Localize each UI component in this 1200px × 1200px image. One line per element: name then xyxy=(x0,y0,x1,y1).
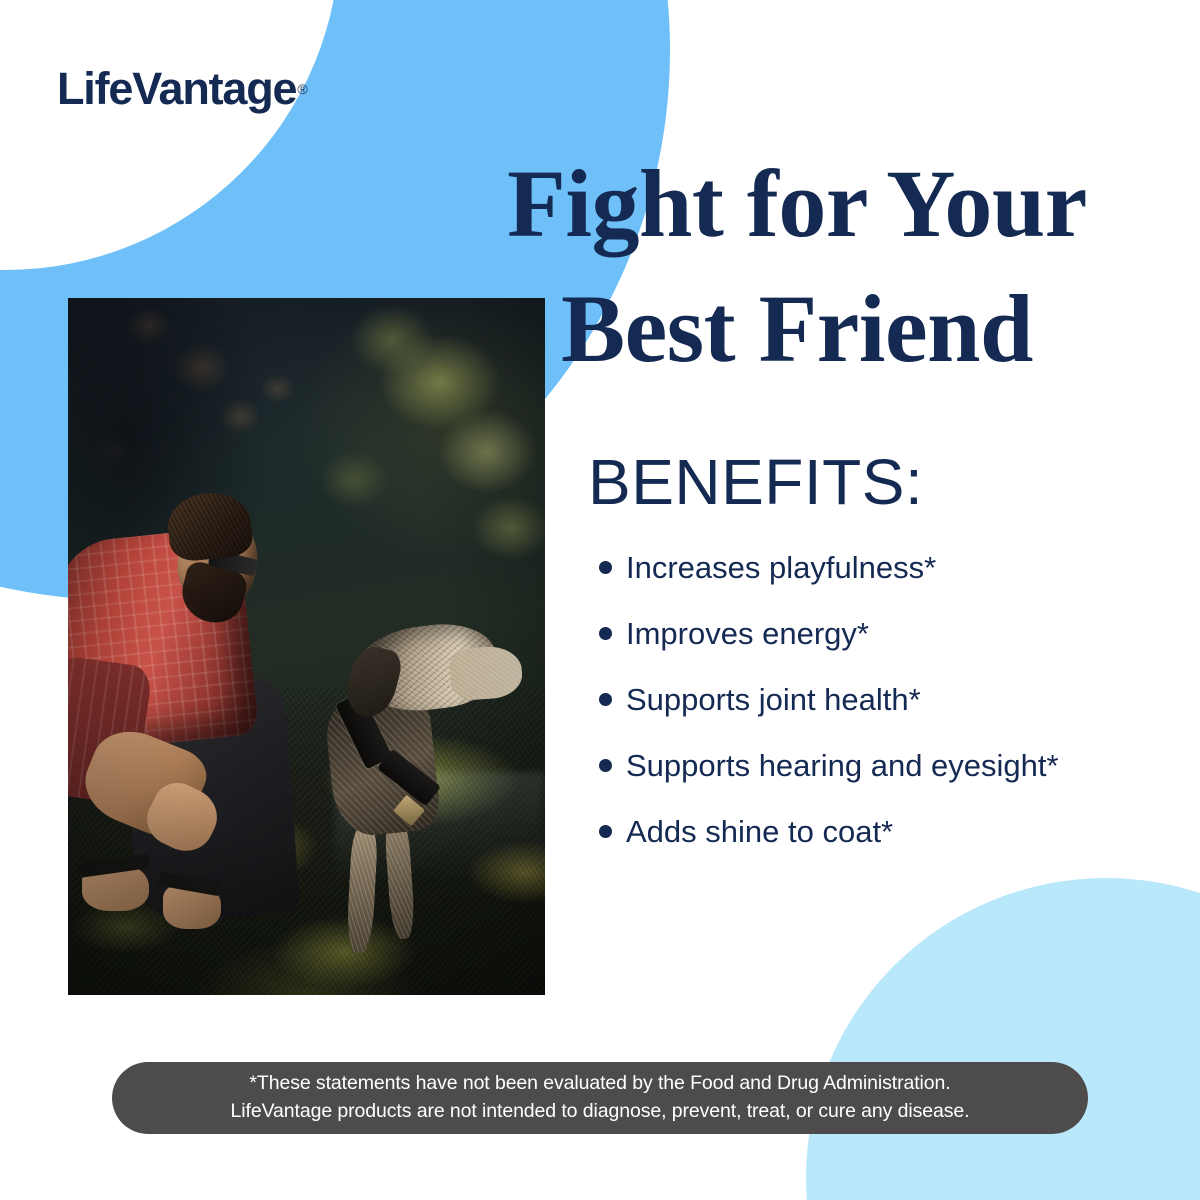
disclaimer-line-1: *These statements have not been evaluate… xyxy=(249,1070,950,1098)
disclaimer-line-2: LifeVantage products are not intended to… xyxy=(231,1098,970,1126)
list-item-label: Improves energy* xyxy=(626,616,869,651)
bullet-dot-icon xyxy=(599,693,612,706)
bullet-dot-icon xyxy=(599,825,612,838)
lifevantage-logo: LifeVantage® xyxy=(57,66,307,111)
list-item-label: Adds shine to coat* xyxy=(626,814,893,849)
photo-scene xyxy=(68,298,545,995)
registered-trademark-icon: ® xyxy=(297,81,307,97)
headline-line-2: Best Friend xyxy=(452,267,1142,392)
fda-disclaimer: *These statements have not been evaluate… xyxy=(112,1062,1088,1134)
list-item: Supports joint health* xyxy=(594,684,1174,715)
logo-wordmark: LifeVantage xyxy=(57,63,296,114)
list-item: Increases playfulness* xyxy=(594,552,1174,583)
list-item-label: Supports joint health* xyxy=(626,682,921,717)
bullet-dot-icon xyxy=(599,627,612,640)
bullet-dot-icon xyxy=(599,759,612,772)
list-item: Improves energy* xyxy=(594,618,1174,649)
promo-graphic: LifeVantage® Fight for Your Best Friend xyxy=(0,0,1200,1200)
photo-vignette xyxy=(68,298,545,995)
list-item: Supports hearing and eyesight* xyxy=(594,750,1174,781)
page-title: Fight for Your Best Friend xyxy=(452,142,1142,392)
bullet-dot-icon xyxy=(599,561,612,574)
benefits-list: Increases playfulness* Improves energy* … xyxy=(594,552,1174,882)
list-item-label: Supports hearing and eyesight* xyxy=(626,748,1059,783)
list-item: Adds shine to coat* xyxy=(594,816,1174,847)
hero-photo-man-and-dog xyxy=(68,298,545,995)
list-item-label: Increases playfulness* xyxy=(626,550,936,585)
decorative-pale-blue-circle xyxy=(806,878,1200,1200)
headline-line-1: Fight for Your xyxy=(507,150,1087,257)
benefits-heading: BENEFITS: xyxy=(588,450,923,514)
